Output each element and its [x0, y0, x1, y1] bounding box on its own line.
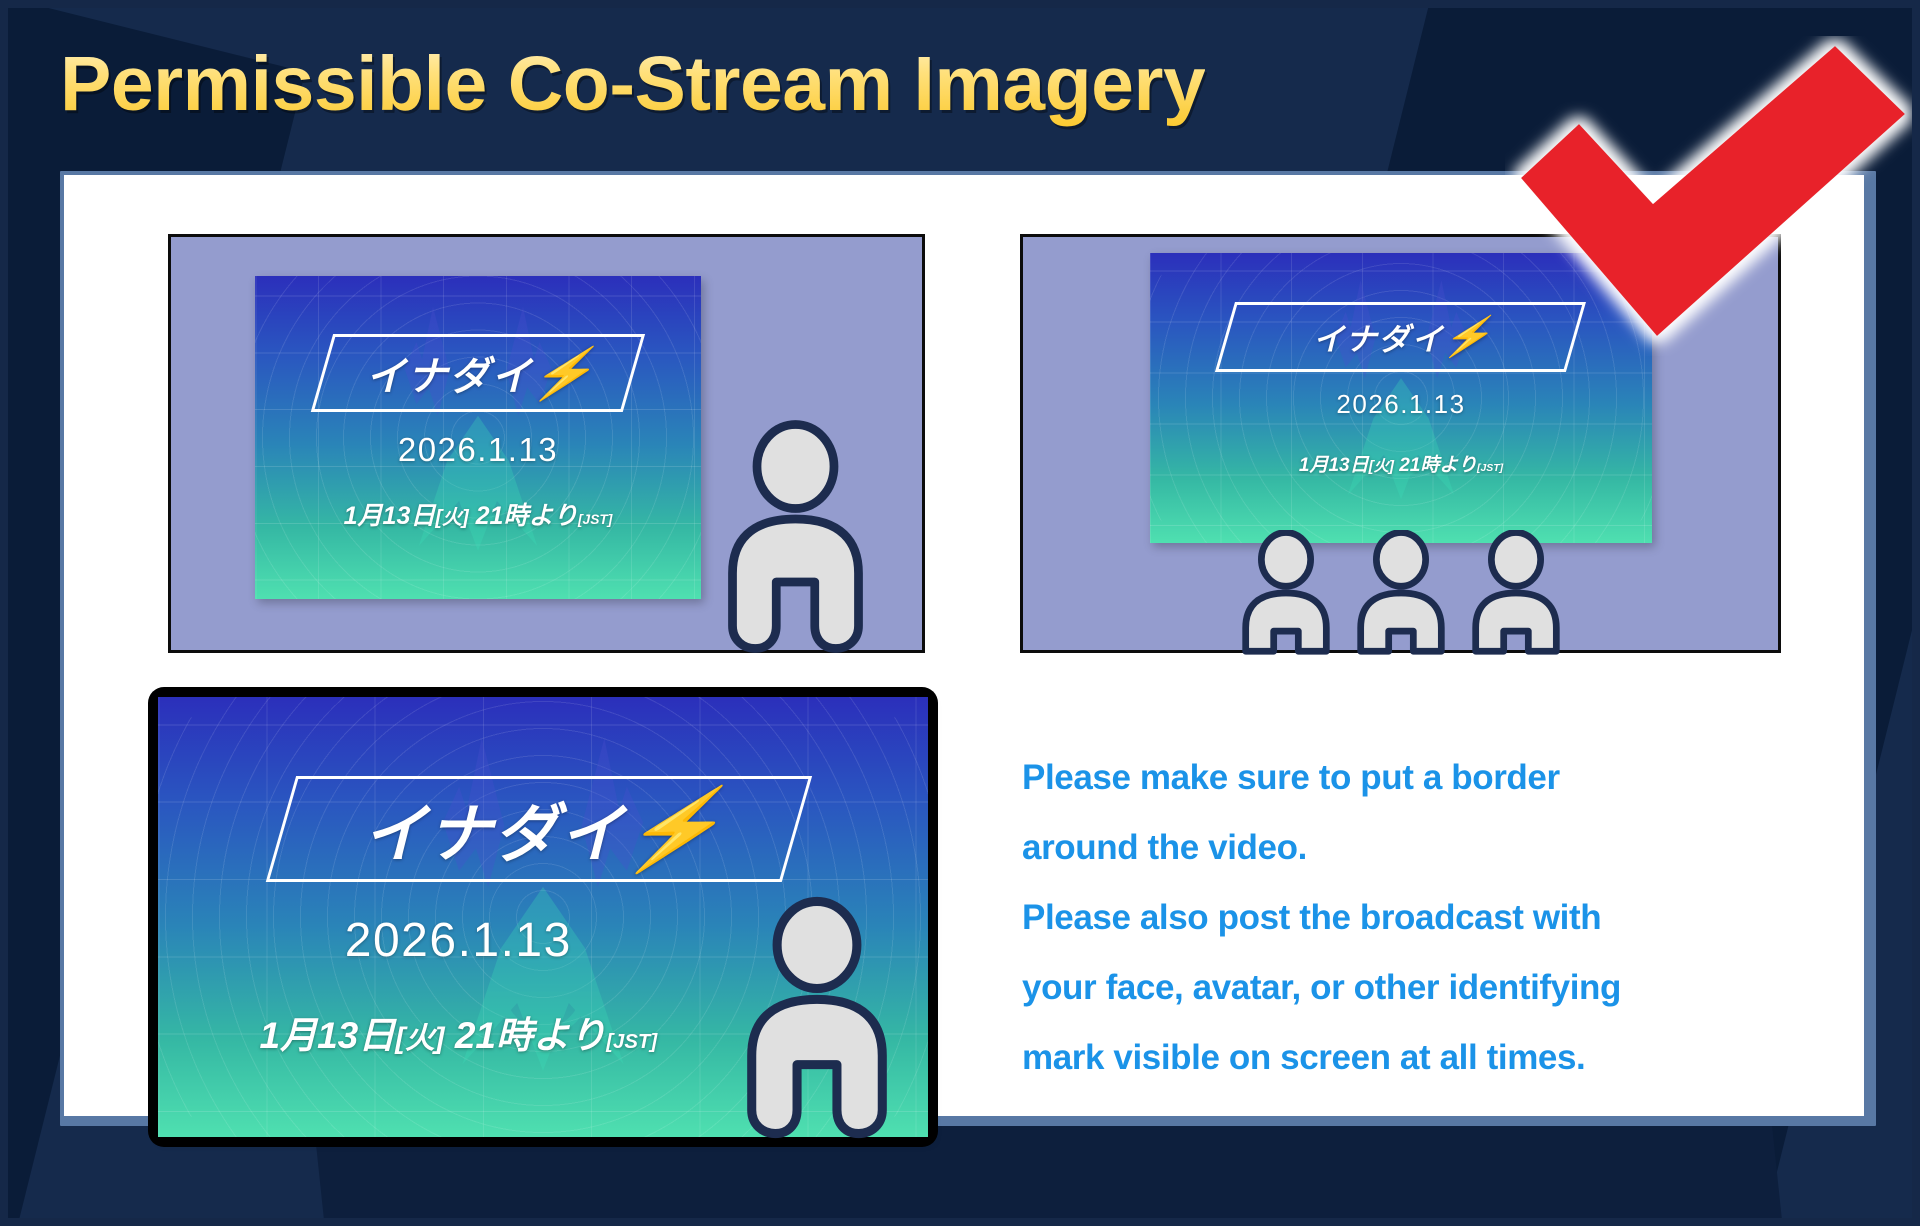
instruction-line-2: around the video. — [1022, 813, 1822, 883]
stream-date: 2026.1.13 — [1150, 389, 1652, 420]
slide-backdrop: Permissible Co-Stream Imagery — [8, 8, 1912, 1218]
instruction-line-4: your face, avatar, or other identifying — [1022, 953, 1822, 1023]
instruction-line-3: Please also post the broadcast with — [1022, 883, 1822, 953]
instruction-line-1: Please make sure to put a border — [1022, 743, 1822, 813]
person-silhouette — [725, 896, 909, 1139]
stream-logo-text: イナダイ⚡ — [366, 344, 590, 402]
stream-time-hour: 21時より — [1399, 455, 1477, 476]
lightning-bolt-icon: ⚡ — [617, 782, 732, 876]
stream-time-weekday: [火] — [1369, 458, 1394, 475]
panel-three-streamers-thumbnail: イナダイ⚡ 2026.1.13 1月13日[火] 21時より[JST] — [1150, 253, 1652, 543]
person-silhouette — [1230, 530, 1342, 656]
stream-time-date: 1月13日 — [344, 502, 436, 530]
stream-logo-text: イナダイ⚡ — [363, 783, 715, 875]
stream-time-date: 1月13日 — [260, 1015, 396, 1056]
logo-characters: イナダイ — [363, 783, 626, 875]
stream-time-zone: [JST] — [606, 1031, 657, 1053]
lightning-bolt-icon: ⚡ — [1440, 314, 1497, 360]
slide-root: Permissible Co-Stream Imagery — [0, 0, 1920, 1226]
stream-time-date: 1月13日 — [1299, 455, 1369, 476]
stream-time-weekday: [火] — [395, 1022, 444, 1055]
stream-logo-text: イナダイ⚡ — [1313, 315, 1489, 360]
instruction-line-5: mark visible on screen at all times. — [1022, 1023, 1822, 1093]
stream-logo-box: イナダイ⚡ — [266, 776, 812, 882]
logo-characters: イナダイ — [1313, 315, 1444, 360]
instruction-text: Please make sure to put a border around … — [1022, 743, 1822, 1093]
stream-time: 1月13日[火] 21時より[JST] — [255, 496, 701, 532]
person-silhouette — [708, 419, 883, 654]
stream-time-hour: 21時より — [476, 502, 578, 530]
person-silhouette — [1460, 530, 1572, 656]
stream-time-zone: [JST] — [578, 512, 612, 527]
stream-logo-box: イナダイ⚡ — [311, 334, 645, 412]
stream-time: 1月13日[火] 21時より[JST] — [1150, 450, 1652, 477]
stream-date: 2026.1.13 — [255, 431, 701, 469]
lightning-bolt-icon: ⚡ — [527, 344, 600, 403]
logo-characters: イナダイ — [366, 344, 533, 402]
stream-time-hour: 21時より — [455, 1015, 606, 1056]
stream-time-zone: [JST] — [1477, 463, 1503, 474]
stream-logo-box: イナダイ⚡ — [1215, 302, 1586, 372]
person-silhouette — [1345, 530, 1457, 656]
page-title: Permissible Co-Stream Imagery — [60, 40, 1205, 129]
stream-time-weekday: [火] — [435, 507, 468, 529]
panel-single-streamer-thumbnail: イナダイ⚡ 2026.1.13 1月13日[火] 21時より[JST] — [255, 276, 701, 599]
